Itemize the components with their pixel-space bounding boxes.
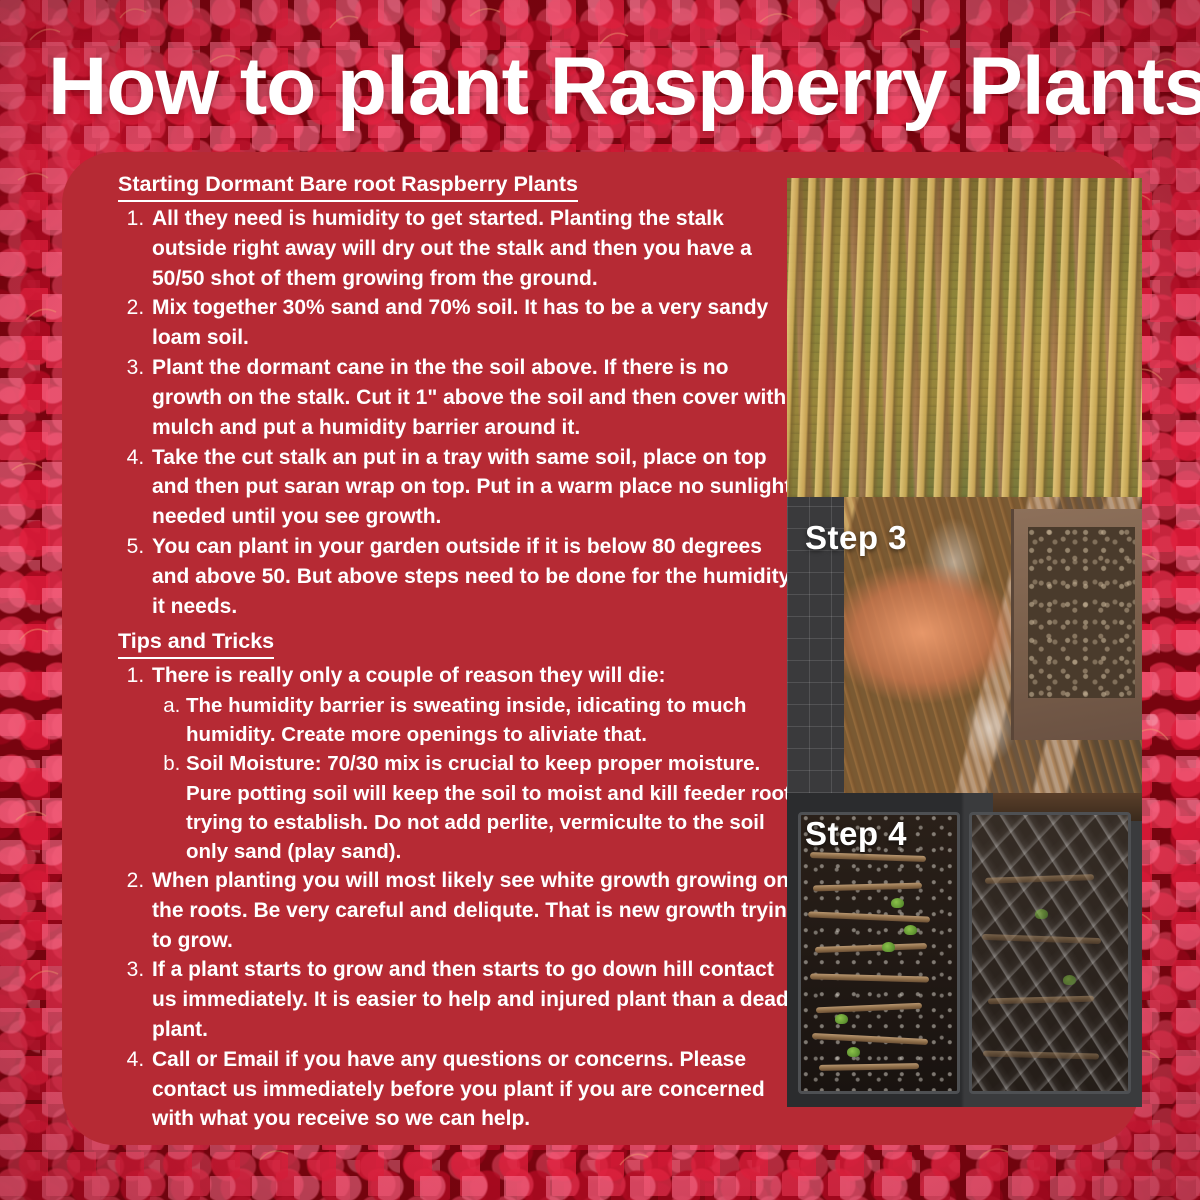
list-item: Call or Email if you have any questions … [150, 1045, 804, 1134]
starting-steps-list: All they need is humidity to get started… [74, 204, 804, 621]
sub-list-item: The humidity barrier is sweating inside,… [186, 691, 804, 749]
photo-raised-bed: Step 3 [787, 497, 1142, 793]
tips-list: There is really only a couple of reason … [74, 661, 804, 1134]
photo-bare-root-canes [787, 178, 1142, 497]
infographic-page: How to plant Raspberry Plants Starting D… [0, 0, 1200, 1200]
photo-label-step-4: Step 4 [805, 815, 907, 853]
list-item: All they need is humidity to get started… [150, 204, 804, 293]
tray-wrapped [969, 812, 1131, 1094]
instructions-text-column: Starting Dormant Bare root Raspberry Pla… [62, 170, 804, 1134]
list-item: You can plant in your garden outside if … [150, 532, 804, 621]
sub-list-item: Soil Moisture: 70/30 mix is crucial to k… [186, 749, 804, 865]
list-item: There is really only a couple of reason … [150, 661, 804, 865]
photo-seed-trays: Step 4 [787, 793, 1142, 1107]
photo-label-step-3: Step 3 [805, 519, 907, 557]
photo-stack: Step 3 [787, 178, 1142, 1107]
planter-soil [1028, 527, 1135, 699]
list-item: Take the cut stalk an put in a tray with… [150, 443, 804, 532]
section-heading-starting: Starting Dormant Bare root Raspberry Pla… [118, 170, 578, 202]
list-item: When planting you will most likely see w… [150, 866, 804, 955]
list-item: Plant the dormant cane in the the soil a… [150, 353, 804, 442]
section-heading-tips: Tips and Tricks [118, 627, 274, 659]
list-item: If a plant starts to grow and then start… [150, 955, 804, 1044]
list-item: Mix together 30% sand and 70% soil. It h… [150, 293, 804, 353]
tray-open [798, 812, 960, 1094]
page-title: How to plant Raspberry Plants [48, 46, 1168, 128]
tips-sublist: The humidity barrier is sweating inside,… [152, 691, 804, 866]
list-item-text: There is really only a couple of reason … [152, 664, 666, 687]
